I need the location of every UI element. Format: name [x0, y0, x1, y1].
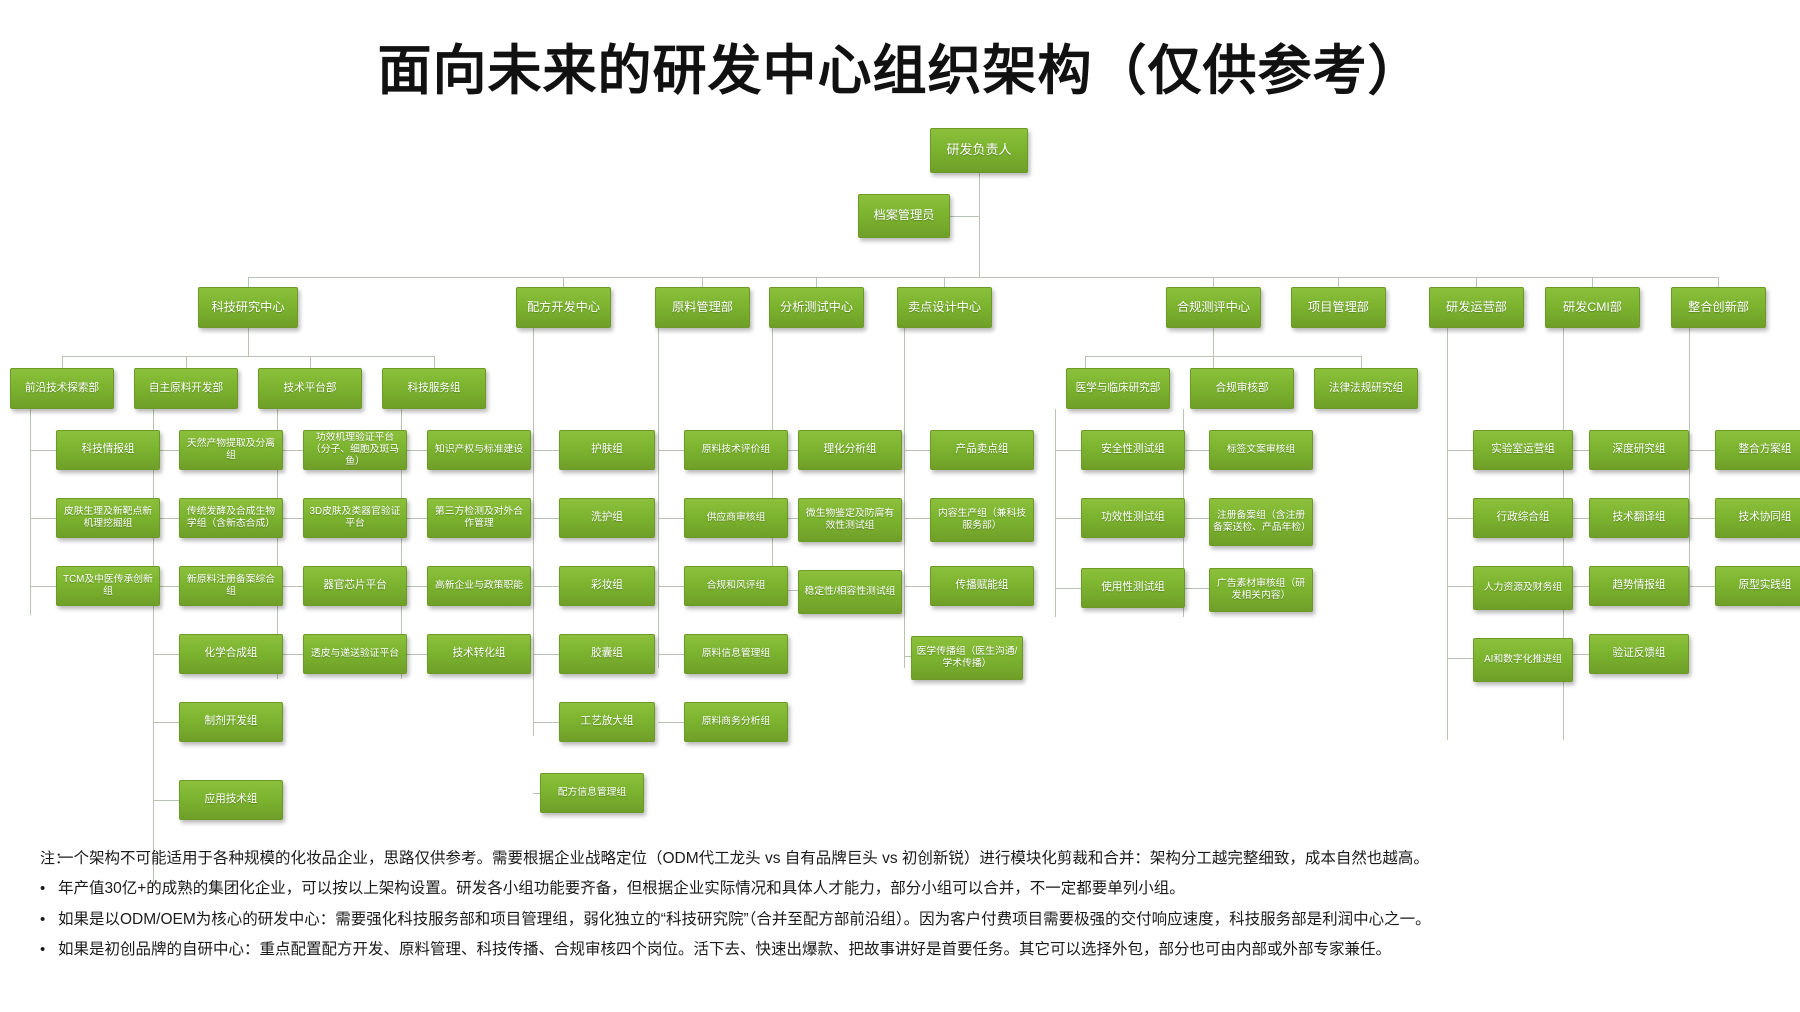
- connector: [904, 328, 905, 668]
- node-group-yuanxing-shijian[interactable]: 原型实践组: [1715, 566, 1800, 606]
- connector: [153, 722, 179, 723]
- connector: [816, 277, 817, 287]
- connector: [1183, 588, 1209, 589]
- node-group-chuanbo-funeng[interactable]: 传播赋能组: [930, 566, 1034, 606]
- connector: [658, 450, 684, 451]
- node-group-huaxue-hecheng[interactable]: 化学合成组: [179, 634, 283, 674]
- node-group-qushi-qingbao[interactable]: 趋势情报组: [1589, 566, 1689, 606]
- connector: [1055, 450, 1081, 451]
- notes-section: 注： 一个架构不可能适用于各种规模的化妆品企业，思路仅供参考。需要根据企业战略定…: [40, 848, 1780, 970]
- node-group-hegui-fengping[interactable]: 合规和风评组: [684, 566, 788, 606]
- node-group-shiyongxing-ceshi[interactable]: 使用性测试组: [1081, 568, 1185, 608]
- connector: [248, 328, 249, 356]
- node-group-keji-qingbao[interactable]: 科技情报组: [56, 430, 160, 470]
- connector: [30, 450, 56, 451]
- connector: [1447, 328, 1448, 740]
- node-group-hufu[interactable]: 护肤组: [559, 430, 655, 470]
- node-dept-keji-fuwu[interactable]: 科技服务组: [382, 368, 486, 409]
- node-center-peifang-kaifa[interactable]: 配方开发中心: [516, 287, 611, 328]
- node-group-neirong-shengchan[interactable]: 内容生产组（兼科技服务部）: [930, 498, 1034, 542]
- connector: [658, 654, 684, 655]
- node-group-tianran-chanwu[interactable]: 天然产物提取及分离组: [179, 430, 283, 470]
- node-root[interactable]: 研发负责人: [930, 128, 1028, 173]
- connector: [1213, 277, 1214, 287]
- node-center-fenxi-ceshi[interactable]: 分析测试中心: [769, 287, 864, 328]
- connector: [1689, 328, 1690, 606]
- connector: [1055, 518, 1081, 519]
- node-dept-jishu-pingtai[interactable]: 技术平台部: [258, 368, 362, 409]
- connector: [658, 586, 684, 587]
- connector: [30, 409, 31, 615]
- connector: [1055, 409, 1056, 617]
- connector: [658, 722, 684, 723]
- node-group-biaoqian-wenan[interactable]: 标签文案审核组: [1209, 430, 1313, 470]
- connector: [1689, 450, 1715, 451]
- node-group-jiaonang[interactable]: 胶囊组: [559, 634, 655, 674]
- note-text: 年产值30亿+的成熟的集团化企业，可以按以上架构设置。研发各小组功能要齐备，但根…: [58, 878, 1780, 900]
- note-item: • 年产值30亿+的成熟的集团化企业，可以按以上架构设置。研发各小组功能要齐备，…: [40, 878, 1780, 900]
- node-dept-zizhu-yuanliao[interactable]: 自主原料开发部: [134, 368, 238, 409]
- node-center-zhenghe-chuangxin[interactable]: 整合创新部: [1671, 287, 1766, 328]
- node-group-yuanliao-shangwu[interactable]: 原料商务分析组: [684, 702, 788, 742]
- node-group-ai-shuzihua[interactable]: AI和数字化推进组: [1473, 638, 1573, 682]
- node-group-shiyanshi-yunying[interactable]: 实验室运营组: [1473, 430, 1573, 470]
- connector: [533, 328, 534, 736]
- note-bullet: 注：: [40, 848, 58, 870]
- org-chart: 研发负责人 档案管理员 科技研究中心 配方开发中心 原料管理部 分析测试中心 卖…: [0, 120, 1800, 840]
- node-group-jishu-fanyi[interactable]: 技术翻译组: [1589, 498, 1689, 538]
- node-center-keji-yanjiu[interactable]: 科技研究中心: [198, 287, 298, 328]
- note-bullet: •: [40, 909, 58, 931]
- node-group-gongxiao-jili[interactable]: 功效机理验证平台（分子、细胞及斑马鱼）: [303, 430, 407, 470]
- connector: [1085, 356, 1086, 368]
- connector: [904, 518, 930, 519]
- note-item: • 如果是初创品牌的自研中心：重点配置配方开发、原料管理、科技传播、合规审核四个…: [40, 939, 1780, 961]
- connector: [1476, 277, 1477, 287]
- node-group-guanggao-sucai[interactable]: 广告素材审核组（研发相关内容）: [1209, 568, 1313, 612]
- connector: [533, 586, 559, 587]
- connector: [1055, 588, 1081, 589]
- connector: [904, 450, 930, 451]
- note-bullet: •: [40, 878, 58, 900]
- connector: [979, 173, 980, 255]
- node-group-gongxiaoxing-ceshi[interactable]: 功效性测试组: [1081, 498, 1185, 538]
- connector: [533, 654, 559, 655]
- node-group-gongyi-fangda[interactable]: 工艺放大组: [559, 702, 655, 742]
- connector: [30, 586, 56, 587]
- note-text: 如果是以ODM/OEM为核心的研发中心：需要强化科技服务部和项目管理组，弱化独立…: [58, 909, 1780, 931]
- note-text: 如果是初创品牌的自研中心：重点配置配方开发、原料管理、科技传播、合规审核四个岗位…: [58, 939, 1780, 961]
- connector: [658, 328, 659, 668]
- connector: [153, 654, 179, 655]
- node-group-gongyingshang-shenhe[interactable]: 供应商审核组: [684, 498, 788, 538]
- connector: [563, 277, 564, 287]
- connector: [1689, 586, 1715, 587]
- node-group-xingzheng-zonghe[interactable]: 行政综合组: [1473, 498, 1573, 538]
- connector: [658, 518, 684, 519]
- node-group-shendu-yanjiu[interactable]: 深度研究组: [1589, 430, 1689, 470]
- connector: [248, 277, 249, 287]
- connector: [1689, 518, 1715, 519]
- note-text: 一个架构不可能适用于各种规模的化妆品企业，思路仅供参考。需要根据企业战略定位（O…: [58, 848, 1780, 870]
- node-group-pifu-shengli[interactable]: 皮肤生理及新靶点新机理挖掘组: [56, 498, 160, 538]
- node-center-yanfa-cmi[interactable]: 研发CMI部: [1545, 287, 1640, 328]
- node-group-disanfang-jiance[interactable]: 第三方检测及对外合作管理: [427, 498, 531, 538]
- connector: [248, 277, 1718, 278]
- connector: [434, 356, 435, 368]
- node-center-xiangmu-guanli[interactable]: 项目管理部: [1291, 287, 1386, 328]
- node-group-xinyuanliao-zhuce[interactable]: 新原料注册备案综合组: [179, 566, 283, 606]
- connector: [533, 722, 559, 723]
- node-group-caizhuang[interactable]: 彩妆组: [559, 566, 655, 606]
- connector: [1183, 518, 1209, 519]
- connector: [944, 277, 945, 287]
- node-group-zhuce-beian[interactable]: 注册备案组（含注册备案送检、产品年检）: [1209, 498, 1313, 546]
- node-group-anquanxing-ceshi[interactable]: 安全性测试组: [1081, 430, 1185, 470]
- page-title: 面向未来的研发中心组织架构（仅供参考）: [0, 26, 1800, 105]
- connector: [1085, 356, 1361, 357]
- node-group-weishengwu-jianding[interactable]: 微生物鉴定及防腐有效性测试组: [798, 498, 902, 542]
- node-dept-yixue-linchuang[interactable]: 医学与临床研究部: [1066, 368, 1170, 409]
- connector: [1447, 450, 1473, 451]
- node-group-zhishi-chanquan[interactable]: 知识产权与标准建设: [427, 430, 531, 470]
- node-group-jishu-xietong[interactable]: 技术协同组: [1715, 498, 1800, 538]
- connector: [702, 277, 703, 287]
- note-bullet: •: [40, 939, 58, 961]
- node-group-zhenghe-fangan[interactable]: 整合方案组: [1715, 430, 1800, 470]
- node-group-renli-ziyuan-caiwu[interactable]: 人力资源及财务组: [1473, 566, 1573, 610]
- connector: [310, 356, 311, 368]
- node-group-xihu[interactable]: 洗护组: [559, 498, 655, 538]
- connector: [30, 518, 56, 519]
- node-group-yuanliao-xinxi[interactable]: 原料信息管理组: [684, 634, 788, 674]
- connector: [1213, 328, 1214, 356]
- node-group-gaoxin-qiye[interactable]: 高新企业与政策职能: [427, 566, 531, 606]
- connector: [1213, 356, 1214, 368]
- node-group-tcm-zhongyi[interactable]: TCM及中医传承创新组: [56, 566, 160, 606]
- node-group-yanzheng-fankui[interactable]: 验证反馈组: [1589, 634, 1689, 674]
- connector: [1592, 277, 1593, 287]
- node-group-yuanliao-jishu-pingjia[interactable]: 原料技术评价组: [684, 430, 788, 470]
- node-center-maidian-sheji[interactable]: 卖点设计中心: [897, 287, 992, 328]
- connector: [979, 255, 980, 277]
- node-group-wendingxing-xiangrongxing[interactable]: 稳定性/相容性测试组: [798, 570, 902, 614]
- node-group-jishu-zhuanhua[interactable]: 技术转化组: [427, 634, 531, 674]
- connector: [904, 586, 930, 587]
- node-group-chuantong-fajiao[interactable]: 传统发酵及合成生物学组（含新态合成）: [179, 498, 283, 538]
- node-group-chanpin-maidian[interactable]: 产品卖点组: [930, 430, 1034, 470]
- node-dept-hegui-shenhe[interactable]: 合规审核部: [1190, 368, 1294, 409]
- connector: [533, 450, 559, 451]
- connector: [1183, 450, 1209, 451]
- connector: [62, 356, 63, 368]
- node-dept-qianyan-jishu[interactable]: 前沿技术探索部: [10, 368, 114, 409]
- note-item: • 如果是以ODM/OEM为核心的研发中心：需要强化科技服务部和项目管理组，弱化…: [40, 909, 1780, 931]
- node-group-yingyong-jishu[interactable]: 应用技术组: [179, 780, 283, 820]
- node-group-lihua-fenxi[interactable]: 理化分析组: [798, 430, 902, 470]
- node-group-qiguan-xinpian[interactable]: 器官芯片平台: [303, 566, 407, 606]
- connector: [533, 518, 559, 519]
- node-center-hegui-ceping[interactable]: 合规测评中心: [1166, 287, 1261, 328]
- connector: [1718, 277, 1719, 287]
- connector: [1447, 658, 1473, 659]
- connector: [1361, 356, 1362, 368]
- node-group-toupi-disong[interactable]: 透皮与递送验证平台: [303, 634, 407, 674]
- node-center-yanfa-yunying[interactable]: 研发运营部: [1429, 287, 1524, 328]
- connector: [1447, 518, 1473, 519]
- node-dept-falv-fagui[interactable]: 法律法规研究组: [1314, 368, 1418, 409]
- node-group-3d-pifu[interactable]: 3D皮肤及类器官验证平台: [303, 498, 407, 538]
- node-center-yuanliao-guanli[interactable]: 原料管理部: [655, 287, 750, 328]
- node-group-yixue-chuanbo[interactable]: 医学传播组（医生沟通/学术传播）: [911, 636, 1023, 680]
- connector: [153, 409, 154, 887]
- connector: [62, 356, 434, 357]
- connector: [186, 356, 187, 368]
- node-group-peifang-xinxi[interactable]: 配方信息管理组: [540, 773, 644, 813]
- note-item: 注： 一个架构不可能适用于各种规模的化妆品企业，思路仅供参考。需要根据企业战略定…: [40, 848, 1780, 870]
- node-assistant[interactable]: 档案管理员: [858, 194, 950, 238]
- connector: [1447, 586, 1473, 587]
- connector: [153, 800, 179, 801]
- node-group-zhiji-kaifa[interactable]: 制剂开发组: [179, 702, 283, 742]
- connector: [1338, 277, 1339, 287]
